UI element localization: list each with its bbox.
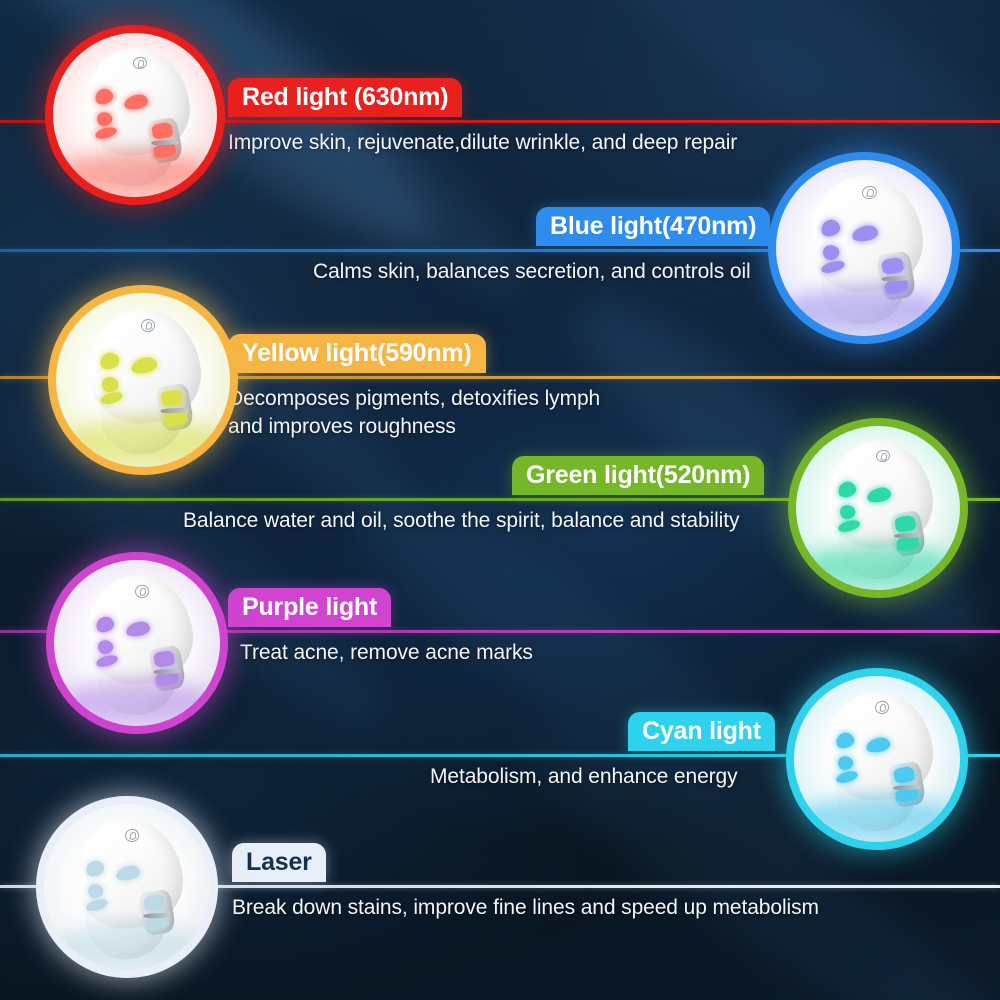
description-laser: Break down stains, improve fine lines an…	[232, 894, 819, 922]
mask-light-cast-green	[804, 544, 952, 587]
description-red: Improve skin, rejuvenate,dilute wrinkle,…	[228, 129, 737, 157]
badge-green[interactable]: Green light(520nm)	[512, 456, 764, 495]
mask-light-cast-blue	[785, 287, 943, 333]
mask-circle-laser	[44, 804, 210, 970]
mask-light-cast-purple	[62, 680, 211, 723]
description-cyan: Metabolism, and enhance energy	[430, 763, 738, 791]
description-green: Balance water and oil, soothe the spirit…	[183, 507, 739, 535]
mask-light-cast-laser	[52, 924, 201, 967]
mask-light-cast-cyan	[802, 796, 951, 839]
badge-yellow[interactable]: Yellow light(590nm)	[228, 334, 486, 373]
badge-laser[interactable]: Laser	[232, 843, 326, 882]
badge-cyan[interactable]: Cyan light	[628, 712, 775, 751]
mask-photo-laser	[36, 796, 218, 978]
description-blue: Calms skin, balances secretion, and cont…	[313, 258, 751, 286]
mask-circle-red	[53, 33, 217, 197]
mask-circle-yellow	[56, 293, 230, 467]
mask-photo-blue	[768, 152, 960, 344]
mask-photo-yellow	[48, 285, 238, 475]
mask-circle-cyan	[794, 676, 960, 842]
mask-photo-red	[45, 25, 225, 205]
mask-circle-green	[796, 426, 960, 590]
mask-light-cast-red	[61, 151, 209, 194]
badge-blue[interactable]: Blue light(470nm)	[536, 207, 770, 246]
mask-light-cast-yellow	[65, 418, 222, 463]
mask-photo-cyan	[786, 668, 968, 850]
description-yellow: Decomposes pigments, detoxifies lymph an…	[228, 385, 600, 440]
mask-photo-green	[788, 418, 968, 598]
mask-circle-blue	[776, 160, 952, 336]
description-purple: Treat acne, remove acne marks	[240, 639, 533, 667]
badge-purple[interactable]: Purple light	[228, 588, 391, 627]
badge-red[interactable]: Red light (630nm)	[228, 78, 462, 117]
mask-circle-purple	[54, 560, 220, 726]
mask-photo-purple	[46, 552, 228, 734]
